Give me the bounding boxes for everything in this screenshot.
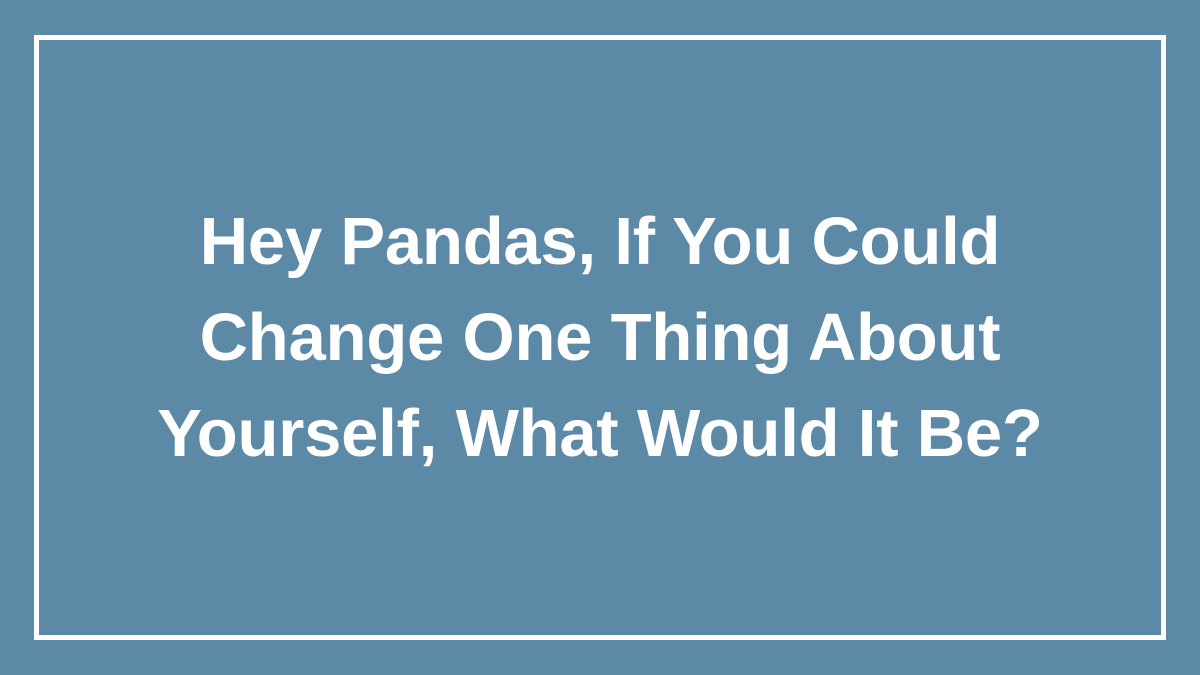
headline-line-3: Yourself, What Would It Be? [70, 386, 1130, 482]
headline-line-1: Hey Pandas, If You Could [70, 194, 1130, 290]
headline-block: Hey Pandas, If You Could Change One Thin… [0, 0, 1200, 675]
title-card: Hey Pandas, If You Could Change One Thin… [0, 0, 1200, 675]
headline-line-2: Change One Thing About [70, 290, 1130, 386]
